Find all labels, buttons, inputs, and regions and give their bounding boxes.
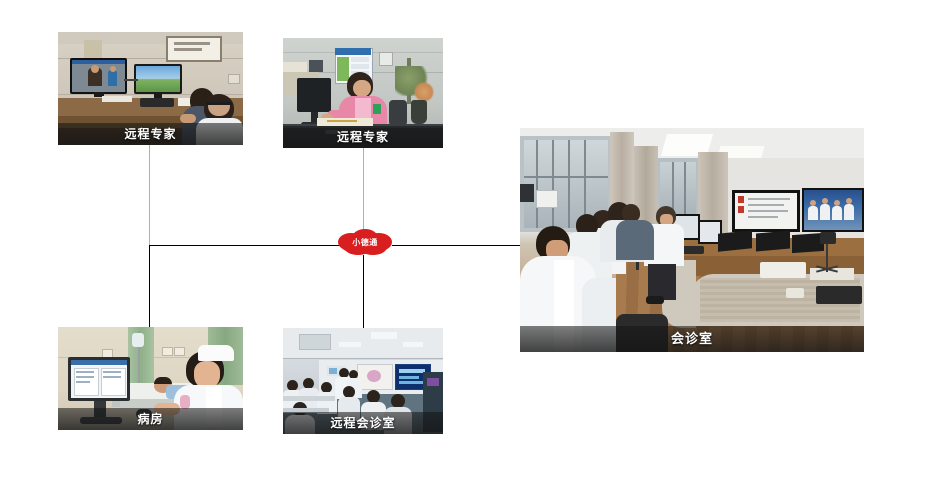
caption-consult-room: 会诊室 [520,326,864,352]
network-cloud[interactable]: 小德通 [336,228,394,257]
caption-ward: 病房 [58,408,243,430]
telemedicine-network-diagram: 小德通 [0,0,925,477]
node-remote-expert-2[interactable]: 远程专家 [283,38,443,148]
node-remote-expert-1[interactable]: 远程专家 [58,32,243,145]
caption-remote-consult-room: 远程会诊室 [283,412,443,434]
connector-expert2-vertical [363,148,364,230]
node-remote-consult-room[interactable]: 远程会诊室 [283,328,443,434]
connector-consult-vertical [363,255,364,328]
connector-trunk-horizontal-right [392,245,521,246]
node-consult-room[interactable]: 会诊室 [520,128,864,352]
photo-scene-consult-room [520,128,864,352]
connector-ward-vertical [149,245,150,327]
node-ward[interactable]: 病房 [58,327,243,430]
caption-remote-expert-1: 远程专家 [58,123,243,145]
cloud-label: 小德通 [336,237,394,248]
connector-trunk-horizontal-left [149,245,341,246]
connector-expert1-vertical [149,145,150,245]
caption-remote-expert-2: 远程专家 [283,126,443,148]
